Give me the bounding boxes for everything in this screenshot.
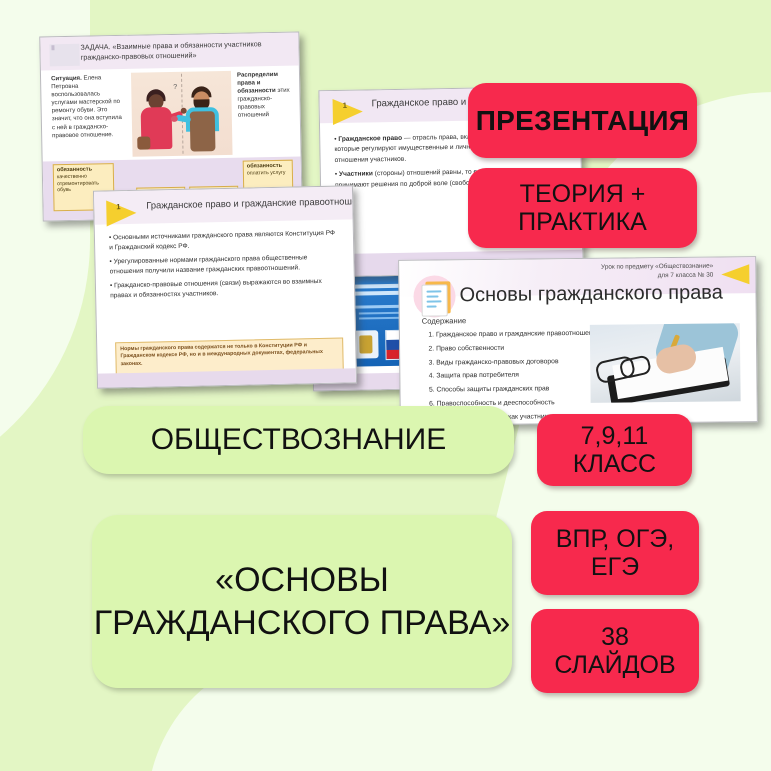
slide2-arrow-icon bbox=[333, 99, 363, 126]
bullet-text: Гражданско-правовые отношения (связи) вы… bbox=[110, 278, 322, 299]
card-sub: оплатить услугу bbox=[244, 170, 292, 178]
question-mark-icon: ? bbox=[173, 84, 177, 91]
slide1-right-lead: Распределим права и обязанности bbox=[237, 71, 278, 95]
pill-topic[interactable]: «ОСНОВЫ ГРАЖДАНСКОГО ПРАВА» bbox=[92, 515, 512, 688]
slide4-meta-grade: для 7 класса № 30 bbox=[601, 271, 713, 281]
bullet-lead: Гражданское право bbox=[338, 135, 402, 143]
slide1-left-lead: Ситуация. bbox=[51, 75, 82, 83]
slide3-bullet-2: • Урегулированные нормами гражданского п… bbox=[109, 253, 339, 278]
slide3-number: 1 bbox=[116, 202, 120, 211]
worker-hand bbox=[171, 116, 178, 122]
slide4-meta: Урок по предмету «Обществознание» для 7 … bbox=[601, 262, 713, 281]
list-item: Гражданское право и гражданские правоотн… bbox=[436, 329, 606, 341]
badge-presentation[interactable]: ПРЕЗЕНТАЦИЯ bbox=[468, 83, 697, 158]
bullet-lead: Участники bbox=[339, 171, 373, 179]
worker-apron bbox=[190, 111, 216, 151]
slide3-bullet-3: • Гражданско-правовые отношения (связи) … bbox=[110, 277, 340, 302]
slide4-contents-label: Содержание bbox=[422, 316, 466, 325]
list-item: Право собственности bbox=[436, 342, 606, 354]
slide3-bullet-1: • Основными источниками гражданского пра… bbox=[109, 229, 339, 254]
list-item: Защита прав потребителя bbox=[436, 370, 606, 382]
list-item: Способы защиты гражданских прав bbox=[436, 384, 606, 396]
badge-exams[interactable]: ВПР, ОГЭ, ЕГЭ bbox=[531, 511, 699, 595]
slide2-number: 1 bbox=[343, 101, 347, 110]
slide3-body: • Основными источниками гражданского пра… bbox=[109, 229, 340, 306]
badge-theory-practice[interactable]: ТЕОРИЯ + ПРАКТИКА bbox=[468, 168, 697, 248]
list-item: Виды гражданско-правовых договоров bbox=[436, 356, 606, 368]
badge-slides-count[interactable]: 38 СЛАЙДОВ bbox=[531, 609, 699, 693]
bullet-text: Основными источниками гражданского права… bbox=[109, 230, 335, 252]
badge-grades[interactable]: 7,9,11 КЛАСС bbox=[537, 414, 692, 486]
slide1-left-text: Ситуация. Елена Петровна воспользовалась… bbox=[51, 74, 125, 140]
bullet-text: Урегулированные нормами гражданского пра… bbox=[110, 254, 308, 275]
slide-preview-civil-law-sources[interactable]: 1 Гражданское право и гражданские правоо… bbox=[93, 185, 357, 388]
slide4-title: Основы гражданского права bbox=[459, 281, 723, 307]
promo-poster: ЗАДАЧА. «Взаимные права и обязанности уч… bbox=[0, 0, 771, 771]
slide4-arrow-icon bbox=[721, 264, 749, 284]
slide1-left-body: Елена Петровна воспользовалась услугами … bbox=[51, 74, 122, 139]
document-icon bbox=[417, 278, 453, 316]
pill-subject[interactable]: ОБЩЕСТВОЗНАНИЕ bbox=[83, 406, 514, 474]
slide1-title: ЗАДАЧА. «Взаимные права и обязанности уч… bbox=[80, 39, 285, 62]
slide-preview-title-contents[interactable]: Урок по предмету «Обществознание» для 7 … bbox=[398, 256, 758, 426]
slide1-decor-square bbox=[49, 44, 79, 67]
slide3-arrow-icon bbox=[106, 200, 137, 227]
coat-of-arms-icon bbox=[353, 330, 378, 358]
slide1-right-text: Распределим права и обязанности этих гра… bbox=[237, 71, 298, 121]
customer-bag bbox=[137, 136, 150, 149]
slide1-illustration: ? bbox=[131, 71, 233, 157]
writing-hand-photo bbox=[590, 323, 741, 403]
